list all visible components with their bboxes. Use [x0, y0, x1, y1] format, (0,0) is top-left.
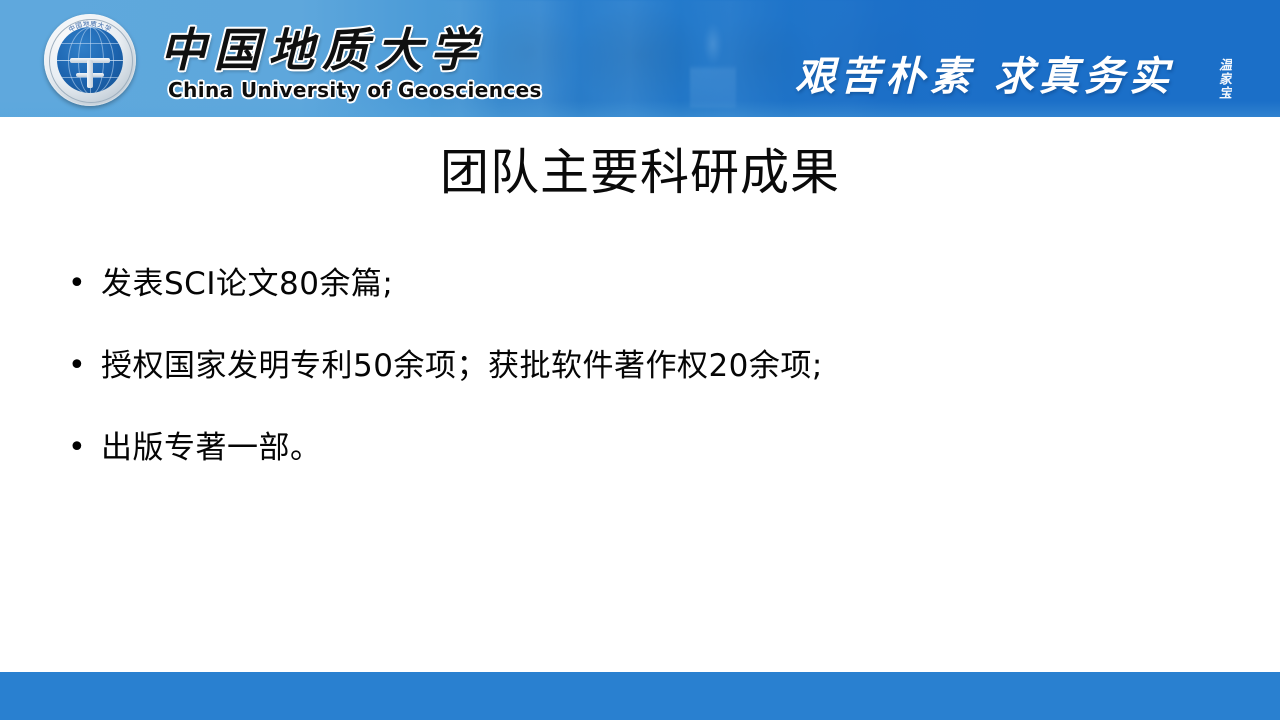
- presentation-slide: 中国地质大学 CHINA UNIVERSITY OF GEOSCIENCES 中…: [0, 0, 1280, 720]
- university-name-chinese: 中国地质大学: [160, 14, 484, 80]
- list-item: • 发表SCI论文80余篇;: [68, 262, 1218, 306]
- list-item-text: 发表SCI论文80余篇;: [101, 262, 1218, 306]
- bullet-marker-icon: •: [68, 344, 101, 388]
- list-item: • 授权国家发明专利50余项；获批软件著作权20余项;: [68, 344, 1218, 388]
- list-item-text: 授权国家发明专利50余项；获批软件著作权20余项;: [101, 344, 1218, 388]
- slide-header-banner: 中国地质大学 CHINA UNIVERSITY OF GEOSCIENCES 中…: [0, 0, 1280, 117]
- page-title: 团队主要科研成果: [0, 144, 1280, 202]
- university-motto: 艰苦朴素 求真务实: [795, 44, 1174, 102]
- banner-bottom-fade: [0, 101, 1280, 117]
- bullet-list: • 发表SCI论文80余篇; • 授权国家发明专利50余项；获批软件著作权20余…: [68, 262, 1218, 508]
- bullet-marker-icon: •: [68, 262, 101, 306]
- motto-signature: 温家宝: [1208, 58, 1230, 100]
- list-item-text: 出版专著一部。: [101, 426, 1218, 470]
- bullet-marker-icon: •: [68, 426, 101, 470]
- university-emblem-icon: 中国地质大学 CHINA UNIVERSITY OF GEOSCIENCES: [44, 14, 136, 106]
- slide-footer-bar: [0, 672, 1280, 720]
- list-item: • 出版专著一部。: [68, 426, 1218, 470]
- emblem-globe-graphic: [57, 27, 123, 93]
- university-name-english: China University of Geosciences: [168, 78, 542, 102]
- emblem-hammer-mark: [70, 58, 110, 88]
